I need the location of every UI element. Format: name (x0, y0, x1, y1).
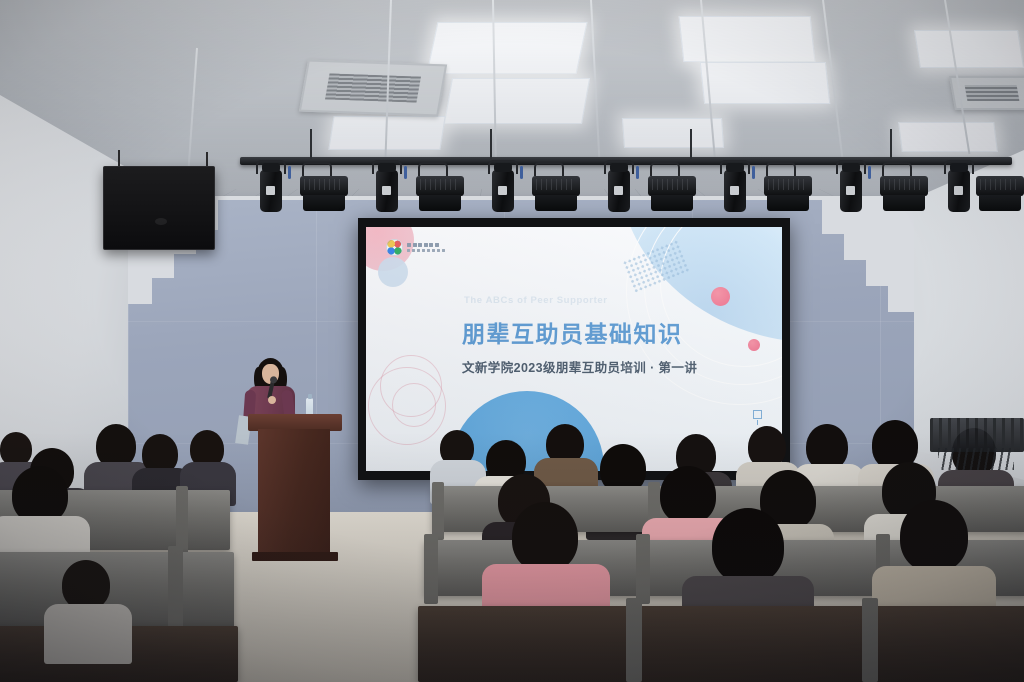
light-cable (636, 166, 639, 179)
flood-light (764, 176, 812, 196)
presenter-hand (268, 396, 276, 404)
light-cable (752, 166, 755, 179)
slide-pink-dot (711, 287, 730, 306)
slide-faint-ring (392, 383, 436, 427)
cable-rack-equipment (930, 418, 1024, 452)
bench-divider (862, 598, 878, 682)
logo-text-line-2 (407, 249, 447, 252)
hanging-speaker (103, 166, 215, 250)
light-yoke (302, 162, 332, 176)
light-cable (404, 166, 407, 179)
light-yoke (418, 162, 448, 176)
flood-light (648, 176, 696, 196)
podium (252, 414, 338, 564)
light-cable (520, 166, 523, 179)
light-cable (868, 166, 871, 179)
par-can-light (948, 170, 970, 212)
flood-light (300, 176, 348, 196)
slide-square-mark-icon (753, 410, 762, 419)
flood-light (416, 176, 464, 196)
podium-base (252, 552, 338, 561)
lecture-hall-scene: The ABCs of Peer Supporter 朋辈互助员基础知识 文新学… (0, 0, 1024, 682)
cable-bundle (938, 448, 1014, 470)
flood-light (532, 176, 580, 196)
podium-body (258, 429, 330, 554)
par-can-light (608, 170, 630, 212)
bench-divider (424, 534, 438, 604)
slide-english-line: The ABCs of Peer Supporter (464, 295, 608, 306)
par-can-light (724, 170, 746, 212)
slide-blue-circle (378, 257, 408, 287)
logo-emblem-icon (386, 239, 403, 256)
par-can-light (260, 170, 282, 212)
flood-light (880, 176, 928, 196)
light-yoke (650, 162, 680, 176)
par-can-light (840, 170, 862, 212)
par-can-light (376, 170, 398, 212)
slide-subtitle: 文新学院2023级朋辈互助员培训 · 第一讲 (462, 357, 697, 376)
slide-title: 朋辈互助员基础知识 (462, 315, 683, 349)
flood-light (976, 176, 1024, 196)
light-yoke (882, 162, 912, 176)
light-cable (288, 166, 291, 179)
light-yoke (534, 162, 564, 176)
bench-row (418, 606, 1024, 682)
bench-divider (636, 534, 650, 604)
logo-text (407, 243, 447, 253)
slide-logo (386, 239, 447, 256)
bench-divider (168, 546, 183, 638)
light-yoke (766, 162, 796, 176)
bench-divider (432, 482, 444, 540)
slide-pink-dot (748, 339, 760, 351)
par-can-light (492, 170, 514, 212)
logo-text-line-1 (407, 243, 447, 247)
bench-divider (626, 598, 642, 682)
